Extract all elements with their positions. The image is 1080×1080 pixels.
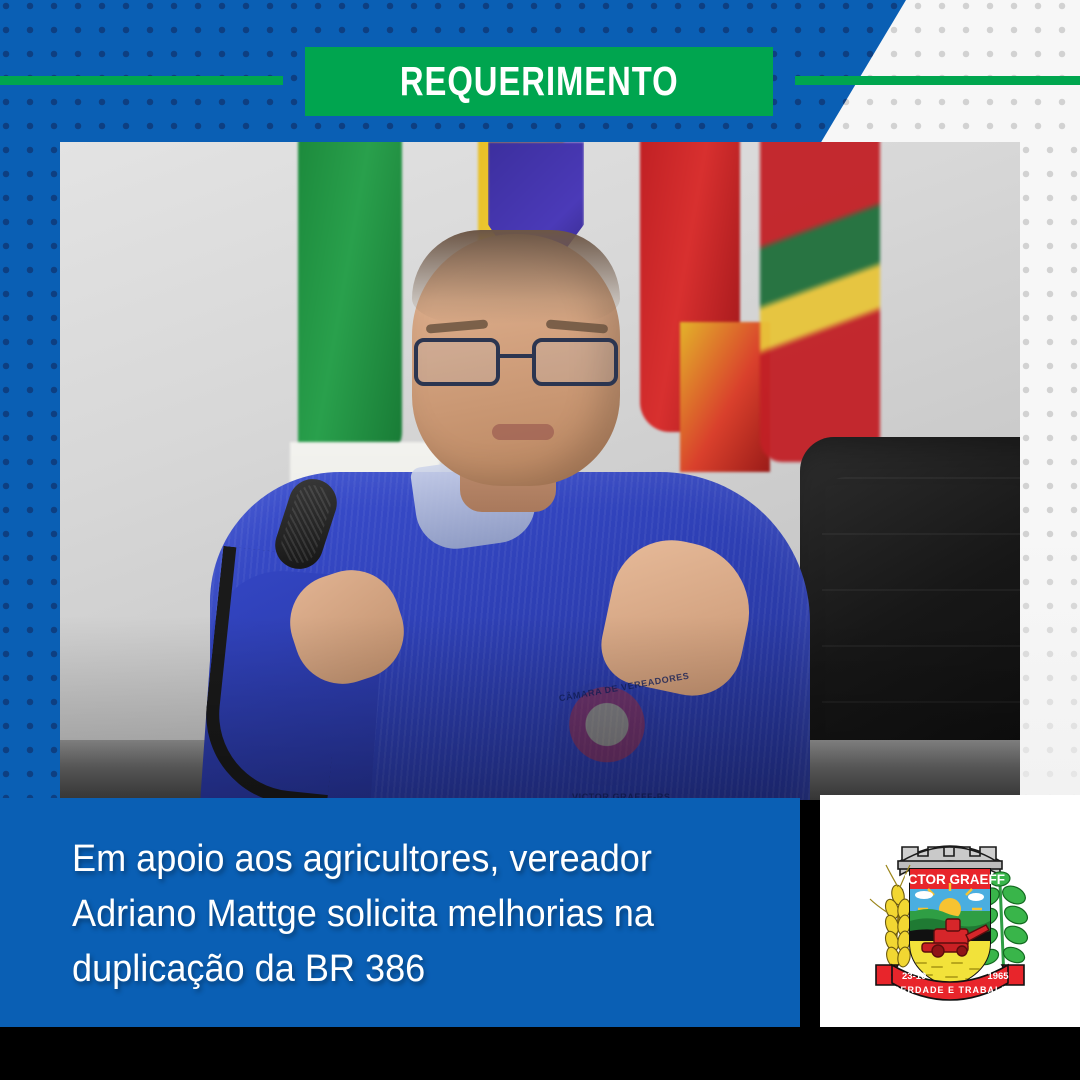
crest-ribbon-motto: LIBERDADE E TRABALHO xyxy=(883,985,1017,995)
header-rule-left xyxy=(0,76,283,85)
page-title: REQUERIMENTO xyxy=(400,58,679,105)
headline-text: Em apoio aos agricultores, vereador Adri… xyxy=(72,832,728,997)
left-dotted-strip xyxy=(0,144,60,800)
header-banner: REQUERIMENTO xyxy=(0,0,1080,144)
caption-panel: Em apoio aos agricultores, vereador Adri… xyxy=(0,798,800,1027)
logo-panel: VICTOR GRAEFF 23-10 LIBERDADE E TRABALHO… xyxy=(820,795,1080,1027)
right-strip-fade xyxy=(1020,144,1080,850)
crest-ribbon-year: 1965 xyxy=(987,971,1009,982)
coat-of-arms-icon: VICTOR GRAEFF 23-10 LIBERDADE E TRABALHO… xyxy=(862,817,1038,1005)
crest-municipality-label: VICTOR GRAEFF xyxy=(895,872,1005,887)
social-media-post-card: REQUERIMENTO xyxy=(0,0,1080,1080)
header-rule-right xyxy=(795,76,1080,85)
photo-bottom-vignette xyxy=(60,142,1020,800)
crest-ribbon-date: 23-10 xyxy=(902,971,926,982)
header-title-box: REQUERIMENTO xyxy=(305,47,773,116)
hero-photo: CÂMARA DE VEREADORES VICTOR GRAEFF-RS xyxy=(60,142,1020,800)
